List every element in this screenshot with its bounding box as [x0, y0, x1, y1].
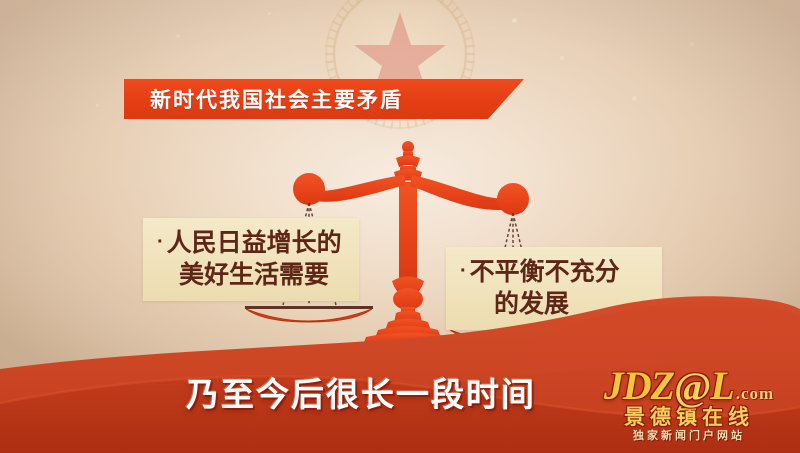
- title-banner: 新时代我国社会主要矛盾: [124, 79, 524, 119]
- panel-left-line1: ·人民日益增长的: [157, 227, 347, 259]
- subtitle-text: 乃至今后很长一段时间: [186, 368, 536, 416]
- watermark-brand: JDZ@L.com: [582, 366, 796, 406]
- banner-title-text: 新时代我国社会主要矛盾: [124, 84, 403, 114]
- watermark-brand-part2: L: [710, 366, 733, 406]
- slide-canvas: 新时代我国社会主要矛盾: [0, 0, 800, 453]
- watermark-tagline: 独家新闻门户网站: [582, 431, 796, 442]
- watermark-domain: .com: [736, 385, 774, 402]
- bullet-marker: ·: [157, 231, 164, 253]
- panel-left-text1: 人民日益增长的: [167, 229, 342, 257]
- watermark-logo: JDZ@L.com 景德镇在线 独家新闻门户网站: [582, 366, 796, 450]
- watermark-brand-part1: JDZ: [604, 366, 674, 406]
- panel-right-text1: 不平衡不充分: [470, 258, 620, 286]
- at-symbol-icon: @: [674, 367, 710, 407]
- bullet-marker: ·: [460, 260, 467, 282]
- watermark-site-name: 景德镇在线: [582, 407, 796, 428]
